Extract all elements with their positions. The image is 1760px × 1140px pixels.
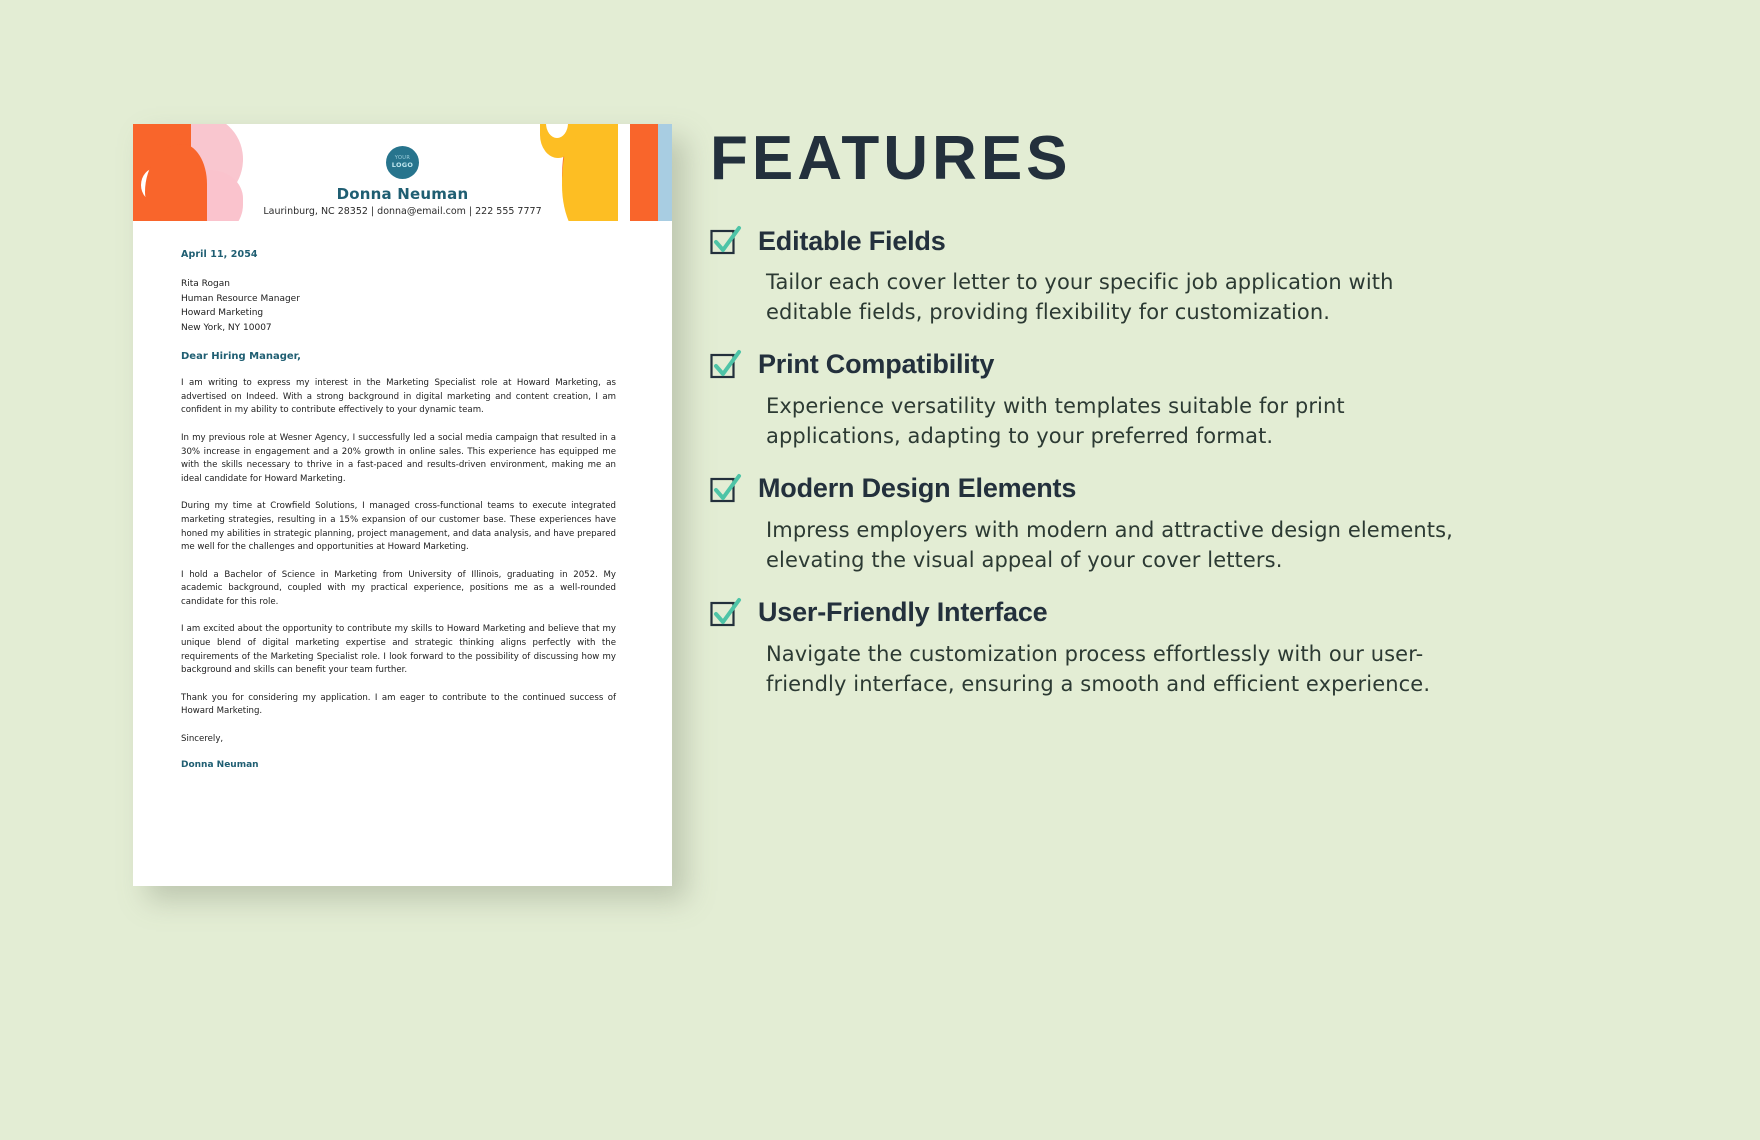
checkbox-check-icon [708,596,742,630]
checkbox-check-icon [708,348,742,382]
feature-description: Experience versatility with templates su… [766,391,1486,452]
feature-title: Editable Fields [758,226,946,257]
letter-paragraph: During my time at Crowfield Solutions, I… [181,500,616,554]
letter-paragraph: I am excited about the opportunity to co… [181,623,616,677]
features-panel: FEATURES Editable Fields Tailor each cov… [708,128,1498,720]
checkbox-check-icon [708,224,742,258]
checkbox-check-icon [708,472,742,506]
sender-name: Donna Neuman [133,185,672,203]
recipient-line: Howard Marketing [181,306,616,321]
feature-heading-row: User-Friendly Interface [708,596,1498,630]
letterhead-header: YOUR LOGO Donna Neuman Laurinburg, NC 28… [133,124,672,221]
recipient-line: Human Resource Manager [181,292,616,307]
letter-date: April 11, 2054 [181,249,616,260]
letter-paragraph: I hold a Bachelor of Science in Marketin… [181,569,616,610]
recipient-line: New York, NY 10007 [181,321,616,336]
feature-title: Print Compatibility [758,349,994,380]
cover-letter-document: YOUR LOGO Donna Neuman Laurinburg, NC 28… [133,124,672,886]
feature-heading-row: Editable Fields [708,224,1498,258]
sender-contact-line: Laurinburg, NC 28352 | donna@email.com |… [133,206,672,217]
feature-item: User-Friendly Interface Navigate the cus… [708,596,1498,700]
feature-item: Editable Fields Tailor each cover letter… [708,224,1498,328]
your-logo-placeholder: YOUR LOGO [386,146,419,179]
feature-heading-row: Print Compatibility [708,348,1498,382]
feature-description: Navigate the customization process effor… [766,639,1486,700]
feature-item: Modern Design Elements Impress employers… [708,472,1498,576]
recipient-line: Rita Rogan [181,277,616,292]
letter-paragraph: Thank you for considering my application… [181,692,616,719]
letter-paragraph: In my previous role at Wesner Agency, I … [181,432,616,486]
feature-title: Modern Design Elements [758,473,1076,504]
feature-description: Tailor each cover letter to your specifi… [766,267,1486,328]
letter-signature: Donna Neuman [181,760,616,770]
feature-title: User-Friendly Interface [758,597,1048,628]
letter-body: April 11, 2054 Rita Rogan Human Resource… [133,221,672,770]
feature-heading-row: Modern Design Elements [708,472,1498,506]
letterhead-identity: YOUR LOGO Donna Neuman Laurinburg, NC 28… [133,146,672,217]
letter-salutation: Dear Hiring Manager, [181,351,616,362]
letter-paragraph: I am writing to express my interest in t… [181,377,616,418]
letter-closing: Sincerely, [181,733,616,747]
logo-line-2: LOGO [392,162,414,169]
feature-description: Impress employers with modern and attrac… [766,515,1486,576]
features-heading: FEATURES [710,128,1498,190]
feature-item: Print Compatibility Experience versatili… [708,348,1498,452]
recipient-address-block: Rita Rogan Human Resource Manager Howard… [181,277,616,335]
